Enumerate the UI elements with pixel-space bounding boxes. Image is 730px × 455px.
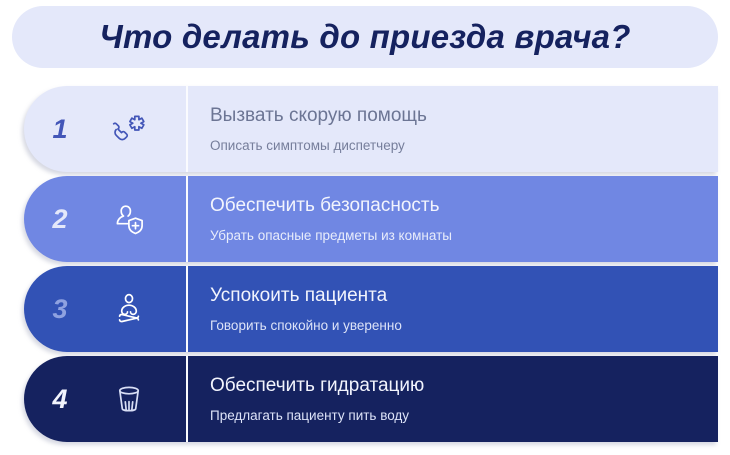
step-left-panel: 4 <box>24 356 186 442</box>
steps-list: 1 Вызвать скорую помощь Описать симптомы… <box>0 86 730 455</box>
step-content: Обеспечить гидратацию Предлагать пациент… <box>188 356 718 442</box>
step-content: Обеспечить безопасность Убрать опасные п… <box>188 176 718 262</box>
step-content: Вызвать скорую помощь Описать симптомы д… <box>188 86 718 172</box>
step-number: 4 <box>24 384 96 415</box>
step-subtitle: Убрать опасные предметы из комнаты <box>210 227 718 244</box>
step-row[interactable]: 3 Успокоить пациента Говорить спокойно и… <box>24 266 718 352</box>
step-title: Обеспечить безопасность <box>210 194 718 218</box>
step-row[interactable]: 4 Обеспечить гидратацию Предлагать пацие… <box>24 356 718 442</box>
step-title: Обеспечить гидратацию <box>210 374 718 398</box>
phone-medical-cross-icon <box>96 109 162 149</box>
step-subtitle: Говорить спокойно и уверенно <box>210 317 718 334</box>
step-left-panel: 1 <box>24 86 186 172</box>
step-row[interactable]: 2 Обеспечить безопасность Убрать опасные… <box>24 176 718 262</box>
step-number: 1 <box>24 114 96 145</box>
step-content: Успокоить пациента Говорить спокойно и у… <box>188 266 718 352</box>
step-left-panel: 3 <box>24 266 186 352</box>
step-row[interactable]: 1 Вызвать скорую помощь Описать симптомы… <box>24 86 718 172</box>
step-left-panel: 2 <box>24 176 186 262</box>
step-title: Успокоить пациента <box>210 284 718 308</box>
step-number: 3 <box>24 294 96 325</box>
page-title-banner: Что делать до приезда врача? <box>12 6 718 68</box>
meditating-person-icon <box>96 289 162 329</box>
step-subtitle: Описать симптомы диспетчеру <box>210 137 718 154</box>
step-subtitle: Предлагать пациенту пить воду <box>210 407 718 424</box>
page-title: Что делать до приезда врача? <box>99 18 630 56</box>
step-number: 2 <box>24 204 96 235</box>
person-shield-plus-icon <box>96 199 162 239</box>
drinking-glass-icon <box>96 379 162 419</box>
step-title: Вызвать скорую помощь <box>210 104 718 128</box>
